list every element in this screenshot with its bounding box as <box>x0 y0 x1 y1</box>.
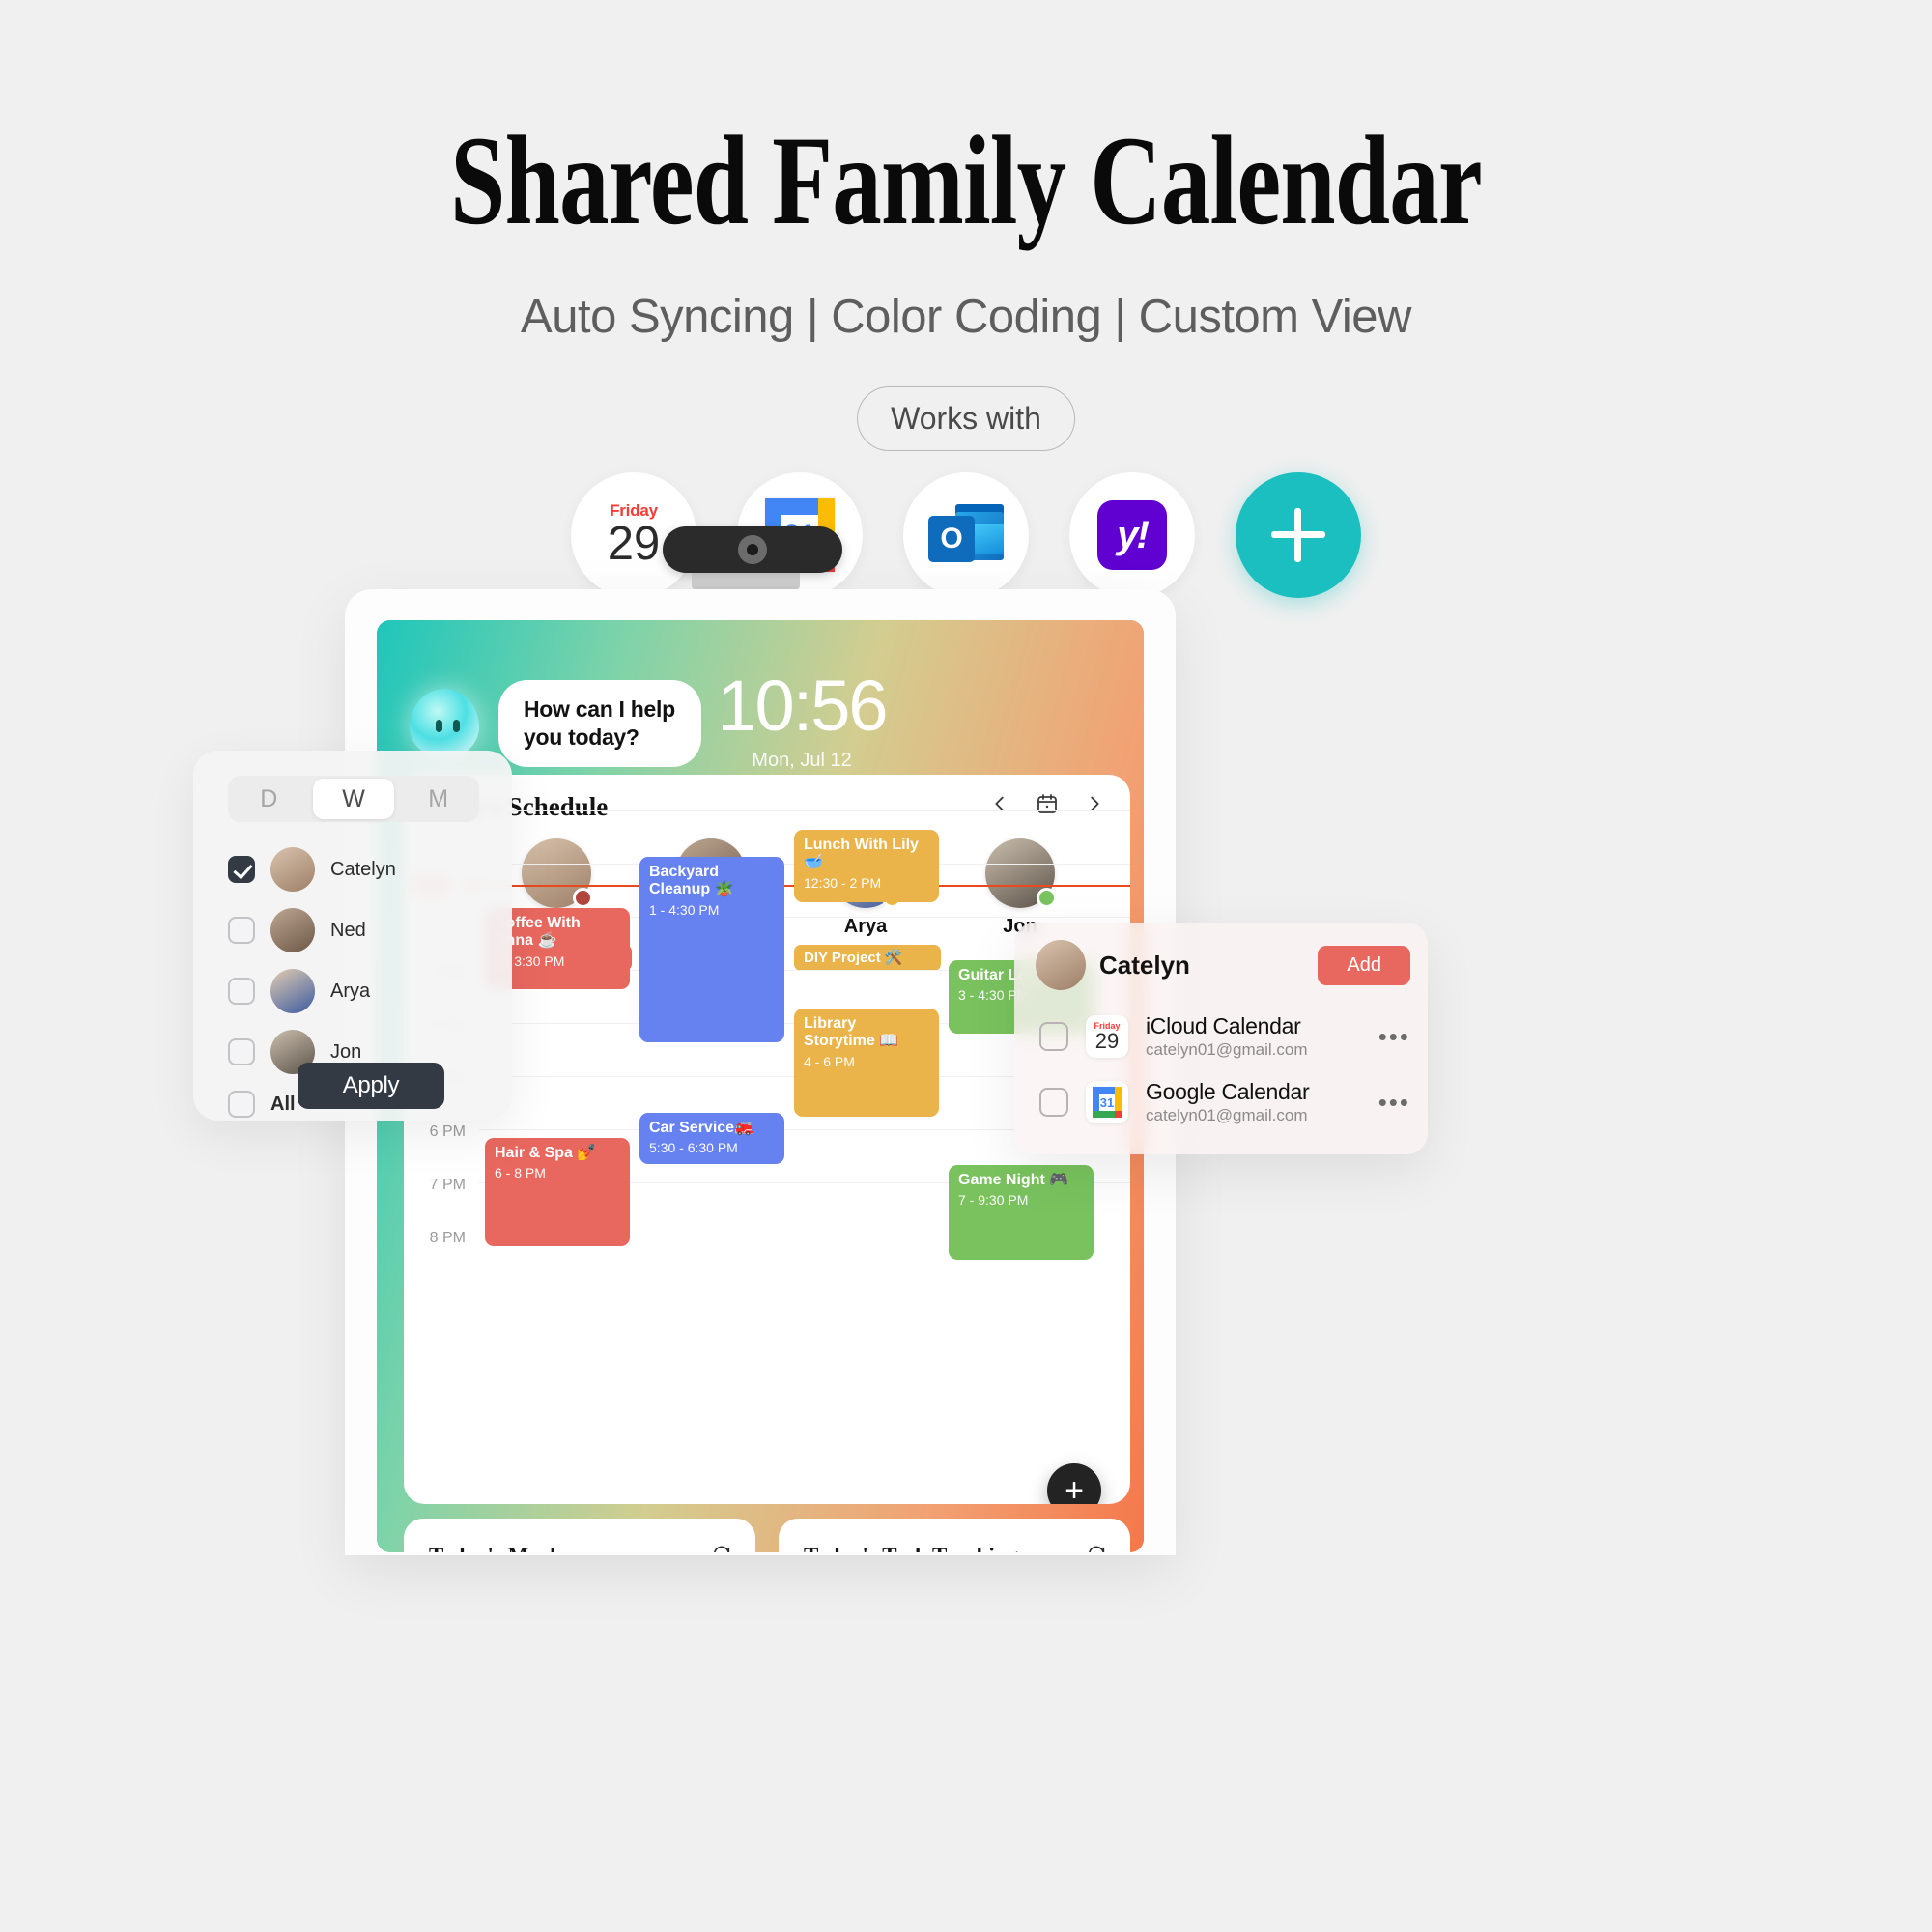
refresh-icon[interactable] <box>711 1544 732 1552</box>
account-row-icloud[interactable]: Friday 29 iCloud Calendar catelyn01@gmai… <box>1039 1013 1410 1060</box>
event-card[interactable]: Car Service🚒 5:30 - 6:30 PM <box>639 1113 784 1164</box>
page-title: Shared Family Calendar <box>213 114 1719 248</box>
event-title: Hair & Spa 💅 <box>495 1145 620 1162</box>
filter-label: Jon <box>330 1041 361 1064</box>
event-card[interactable]: Lunch With Lily 🥣 12:30 - 2 PM <box>794 830 939 902</box>
checkbox[interactable] <box>228 1038 255 1065</box>
event-title: Car Service🚒 <box>649 1120 775 1137</box>
view-mode-week[interactable]: W <box>313 779 395 819</box>
apple-calendar-day: 29 <box>608 521 661 568</box>
filter-label: All <box>270 1094 296 1116</box>
checkbox[interactable] <box>228 917 255 944</box>
page-subtitle: Auto Syncing | Color Coding | Custom Vie… <box>0 290 1932 344</box>
account-name: Google Calendar <box>1146 1079 1361 1105</box>
webcam-lens-icon <box>738 535 767 564</box>
tasks-card[interactable]: Today's Task Tracking <box>779 1519 1130 1552</box>
refresh-icon[interactable] <box>1086 1544 1107 1552</box>
bottom-cards: Today's Meals Today's Task Tracking <box>404 1519 1130 1552</box>
checkbox[interactable] <box>1039 1088 1068 1117</box>
account-popup-header: Catelyn Add <box>1036 940 1410 990</box>
event-title: Lunch With Lily 🥣 <box>804 837 929 872</box>
view-mode-switcher: D W M <box>228 776 479 822</box>
google-calendar-icon: 31 <box>1086 1081 1128 1123</box>
page-root: Shared Family Calendar Auto Syncing | Co… <box>0 0 1932 1932</box>
more-options-icon[interactable]: ••• <box>1378 1022 1410 1052</box>
event-time: 1 - 4:30 PM <box>649 902 775 918</box>
apple-calendar-dow: Friday <box>608 502 661 519</box>
filter-label: Catelyn <box>330 859 396 881</box>
clock-time: 10:56 <box>667 670 937 742</box>
event-time: 6 - 8 PM <box>495 1165 620 1180</box>
event-title: Library Storytime 📖 <box>804 1015 929 1051</box>
avatar <box>270 908 315 952</box>
view-mode-day[interactable]: D <box>228 776 310 822</box>
add-account-button[interactable]: Add <box>1318 946 1410 985</box>
account-email: catelyn01@gmail.com <box>1146 1040 1361 1060</box>
account-row-google[interactable]: 31 Google Calendar catelyn01@gmail.com •… <box>1039 1079 1410 1125</box>
filter-row-all[interactable]: All <box>228 1091 296 1118</box>
account-user-name: Catelyn <box>1099 951 1304 980</box>
prev-icon[interactable] <box>989 793 1010 819</box>
event-time: 7 - 9:30 PM <box>958 1192 1084 1207</box>
event-title: Backyard Cleanup 🪴 <box>649 864 775 899</box>
event-card[interactable]: Game Night 🎮 7 - 9:30 PM <box>949 1165 1094 1260</box>
time-label: 6 PM <box>430 1123 466 1141</box>
mini-apple-day: 29 <box>1094 1031 1120 1052</box>
avatar <box>985 838 1055 908</box>
avatar <box>270 847 315 892</box>
filter-label: Ned <box>330 920 366 942</box>
yahoo-calendar-icon[interactable]: y! <box>1069 472 1195 598</box>
time-label: 8 PM <box>430 1230 466 1247</box>
card-title: Today's Task Tracking <box>804 1544 1018 1552</box>
account-email: catelyn01@gmail.com <box>1146 1106 1361 1125</box>
event-time: 12:30 - 2 PM <box>804 875 929 891</box>
event-title: Coffee With Anna ☕ <box>495 915 620 951</box>
avatar <box>270 969 315 1013</box>
filter-row-arya[interactable]: Arya <box>228 969 370 1013</box>
person-name: Arya <box>788 916 943 938</box>
calendar-icon[interactable] <box>1036 792 1059 820</box>
apple-calendar-icon: Friday 29 <box>1086 1015 1128 1058</box>
works-with-badge: Works with <box>857 386 1075 451</box>
event-time: 4 - 6 PM <box>804 1054 929 1069</box>
yahoo-letter: y! <box>1097 500 1167 570</box>
add-integration-button[interactable] <box>1236 472 1361 598</box>
view-mode-month[interactable]: M <box>397 776 479 822</box>
avatar <box>522 838 591 908</box>
account-popup: Catelyn Add Friday 29 iCloud Calendar ca… <box>1014 923 1428 1154</box>
time-label: 7 PM <box>430 1177 466 1194</box>
checkbox[interactable] <box>228 978 255 1005</box>
event-time: 2 - 3:30 PM <box>495 953 620 969</box>
webcam <box>663 526 842 573</box>
clock-widget: 10:56 Mon, Jul 12 <box>667 670 937 772</box>
schedule-nav <box>989 792 1105 820</box>
checkbox[interactable] <box>228 1091 255 1118</box>
checkbox[interactable] <box>1039 1022 1068 1051</box>
account-name: iCloud Calendar <box>1146 1013 1361 1039</box>
card-title: Today's Meals <box>429 1544 564 1552</box>
event-title: Game Night 🎮 <box>958 1172 1084 1189</box>
plus-icon <box>1271 508 1325 562</box>
assistant-avatar-icon[interactable] <box>410 689 479 758</box>
event-card[interactable]: Hair & Spa 💅 6 - 8 PM <box>485 1138 630 1246</box>
clock-date: Mon, Jul 12 <box>667 750 937 772</box>
next-icon[interactable] <box>1084 793 1105 819</box>
checkbox[interactable] <box>228 856 255 883</box>
mini-google-day: 31 <box>1099 1094 1115 1111</box>
more-options-icon[interactable]: ••• <box>1378 1088 1410 1118</box>
filter-row-catelyn[interactable]: Catelyn <box>228 847 396 892</box>
event-title: DIY Project 🛠️ <box>804 950 931 966</box>
outlook-calendar-icon[interactable]: O <box>903 472 1029 598</box>
meals-card[interactable]: Today's Meals <box>404 1519 755 1552</box>
outlook-letter: O <box>928 516 975 562</box>
avatar <box>1036 940 1086 990</box>
event-card[interactable]: Backyard Cleanup 🪴 1 - 4:30 PM <box>639 857 784 1042</box>
filter-row-ned[interactable]: Ned <box>228 908 366 952</box>
event-card[interactable]: Library Storytime 📖 4 - 6 PM <box>794 1009 939 1117</box>
apply-button[interactable]: Apply <box>298 1063 444 1109</box>
filter-label: Arya <box>330 980 370 1003</box>
event-time: 5:30 - 6:30 PM <box>649 1140 775 1155</box>
